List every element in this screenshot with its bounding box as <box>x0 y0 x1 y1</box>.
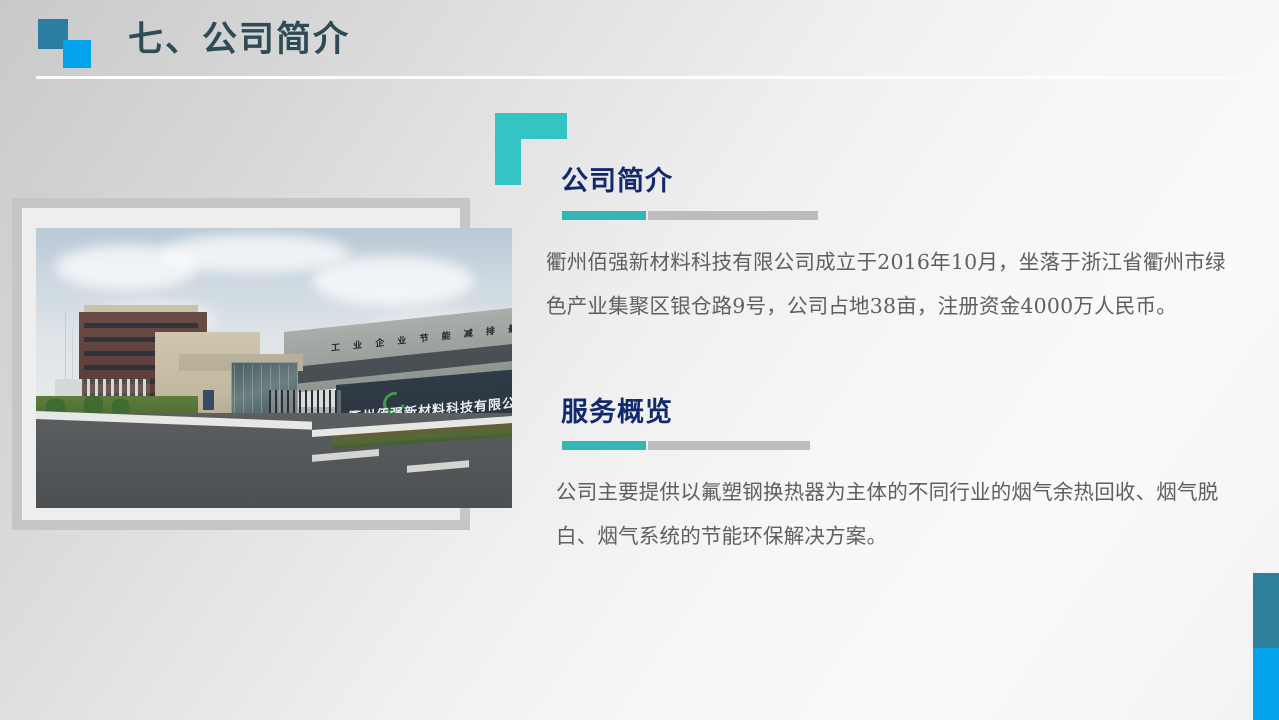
divider-teal-segment <box>562 211 646 220</box>
photo-shrub <box>112 399 129 413</box>
photo-utility-pole <box>72 329 74 385</box>
bracket-vertical-arm <box>495 113 521 185</box>
divider-gray-segment <box>648 211 818 220</box>
section-divider-service-overview <box>562 441 810 450</box>
page-title: 七、公司简介 <box>128 17 350 62</box>
factory-photo: 工 业 企 业 节 能 减 排 最 衢州佰强新材料科技有限公司 <box>36 228 512 508</box>
photo-utility-pole <box>65 312 67 385</box>
body-text-service-overview: 公司主要提供以氟塑钢换热器为主体的不同行业的烟气余热回收、烟气脱白、烟气系统的节… <box>556 470 1256 558</box>
photo-cloud <box>312 256 474 306</box>
section-heading-service-overview: 服务概览 <box>561 390 673 429</box>
divider-gray-segment <box>648 441 810 450</box>
section-heading-company-profile: 公司简介 <box>561 159 673 198</box>
slide-canvas: 七、公司简介 工 业 企 业 节 能 减 排 最 衢州佰强新材料科技有限公司 <box>0 0 1279 720</box>
divider-teal-segment <box>562 441 646 450</box>
teal-corner-bracket-icon <box>495 113 567 185</box>
body-text-company-profile: 衢州佰强新材料科技有限公司成立于2016年10月，坐落于浙江省衢州市绿色产业集聚… <box>546 240 1246 328</box>
header-decoration-square-light-icon <box>63 40 91 68</box>
section-divider-company-profile <box>562 211 818 220</box>
photo-shrub <box>84 396 103 413</box>
photo-guard-booth <box>203 390 215 410</box>
corner-accent-bar-dark <box>1253 573 1279 648</box>
header-divider-rule <box>36 76 1245 79</box>
photo-cloud <box>160 234 350 273</box>
corner-accent-bar-blue <box>1253 648 1279 720</box>
